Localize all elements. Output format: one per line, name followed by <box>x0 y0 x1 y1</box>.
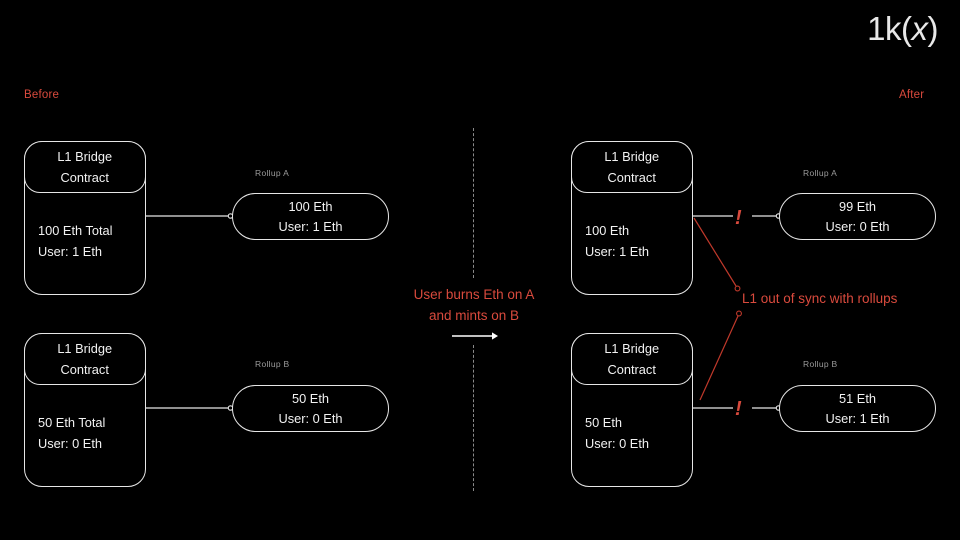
l1-header-before-a: L1 Bridge Contract <box>24 141 146 193</box>
l1-header-line1: L1 Bridge <box>604 338 659 359</box>
l1-user-balance: User: 1 Eth <box>585 241 693 262</box>
phase-divider-bottom <box>473 345 474 491</box>
out-of-sync-leader-lines <box>690 210 760 410</box>
l1-user-balance: User: 1 Eth <box>38 241 146 262</box>
connector-before-a <box>146 210 234 222</box>
rollup-total: 99 Eth <box>839 197 876 217</box>
transition-caption-line1: User burns Eth on A <box>386 284 562 305</box>
brand-logo: 1k(x) <box>867 12 938 45</box>
l1-bridge-contract-after-a: L1 Bridge Contract 100 Eth User: 1 Eth <box>571 141 693 295</box>
l1-body-before-b: 50 Eth Total User: 0 Eth <box>38 412 146 454</box>
l1-header-line2: Contract <box>608 359 656 380</box>
phase-label-before: Before <box>24 89 59 101</box>
rollup-state-after-b: 51 Eth User: 1 Eth <box>779 385 936 432</box>
l1-header-line2: Contract <box>608 167 656 188</box>
l1-header-line1: L1 Bridge <box>604 146 659 167</box>
rollup-user-balance: User: 0 Eth <box>278 409 342 429</box>
l1-body-before-a: 100 Eth Total User: 1 Eth <box>38 220 146 262</box>
l1-total: 100 Eth <box>585 220 693 241</box>
l1-header-after-a: L1 Bridge Contract <box>571 141 693 193</box>
rollup-state-after-a: 99 Eth User: 0 Eth <box>779 193 936 240</box>
rollup-total: 51 Eth <box>839 389 876 409</box>
diagram-canvas: 1k(x) Before After User burns Eth on A a… <box>0 0 960 540</box>
l1-bridge-contract-before-a: L1 Bridge Contract 100 Eth Total User: 1… <box>24 141 146 295</box>
arrow-right-icon <box>452 331 498 341</box>
logo-suffix: ) <box>928 10 939 47</box>
logo-prefix: 1k( <box>867 10 911 47</box>
l1-header-line1: L1 Bridge <box>57 146 112 167</box>
l1-total: 100 Eth Total <box>38 220 146 241</box>
rollup-total: 50 Eth <box>292 389 329 409</box>
transition-caption: User burns Eth on A and mints on B <box>386 284 562 326</box>
l1-user-balance: User: 0 Eth <box>38 433 146 454</box>
rollup-user-balance: User: 0 Eth <box>825 217 889 237</box>
l1-bridge-contract-after-b: L1 Bridge Contract 50 Eth User: 0 Eth <box>571 333 693 487</box>
l1-header-line2: Contract <box>61 167 109 188</box>
l1-total: 50 Eth Total <box>38 412 146 433</box>
l1-body-after-a: 100 Eth User: 1 Eth <box>585 220 693 262</box>
l1-header-line1: L1 Bridge <box>57 338 112 359</box>
rollup-state-before-b: 50 Eth User: 0 Eth <box>232 385 389 432</box>
transition-caption-line2: and mints on B <box>386 305 562 326</box>
rollup-total: 100 Eth <box>288 197 332 217</box>
l1-total: 50 Eth <box>585 412 693 433</box>
phase-label-after: After <box>899 89 924 101</box>
logo-italic-x: x <box>912 10 928 47</box>
l1-header-after-b: L1 Bridge Contract <box>571 333 693 385</box>
connector-before-b <box>146 402 234 414</box>
l1-header-before-b: L1 Bridge Contract <box>24 333 146 385</box>
out-of-sync-label: L1 out of sync with rollups <box>742 291 897 306</box>
rollup-caption-after-b: Rollup B <box>803 359 838 369</box>
l1-user-balance: User: 0 Eth <box>585 433 693 454</box>
rollup-caption-after-a: Rollup A <box>803 168 837 178</box>
rollup-user-balance: User: 1 Eth <box>825 409 889 429</box>
phase-divider-top <box>473 128 474 278</box>
l1-bridge-contract-before-b: L1 Bridge Contract 50 Eth Total User: 0 … <box>24 333 146 487</box>
rollup-state-before-a: 100 Eth User: 1 Eth <box>232 193 389 240</box>
l1-header-line2: Contract <box>61 359 109 380</box>
l1-body-after-b: 50 Eth User: 0 Eth <box>585 412 693 454</box>
rollup-caption-before-a: Rollup A <box>255 168 289 178</box>
rollup-user-balance: User: 1 Eth <box>278 217 342 237</box>
rollup-caption-before-b: Rollup B <box>255 359 290 369</box>
